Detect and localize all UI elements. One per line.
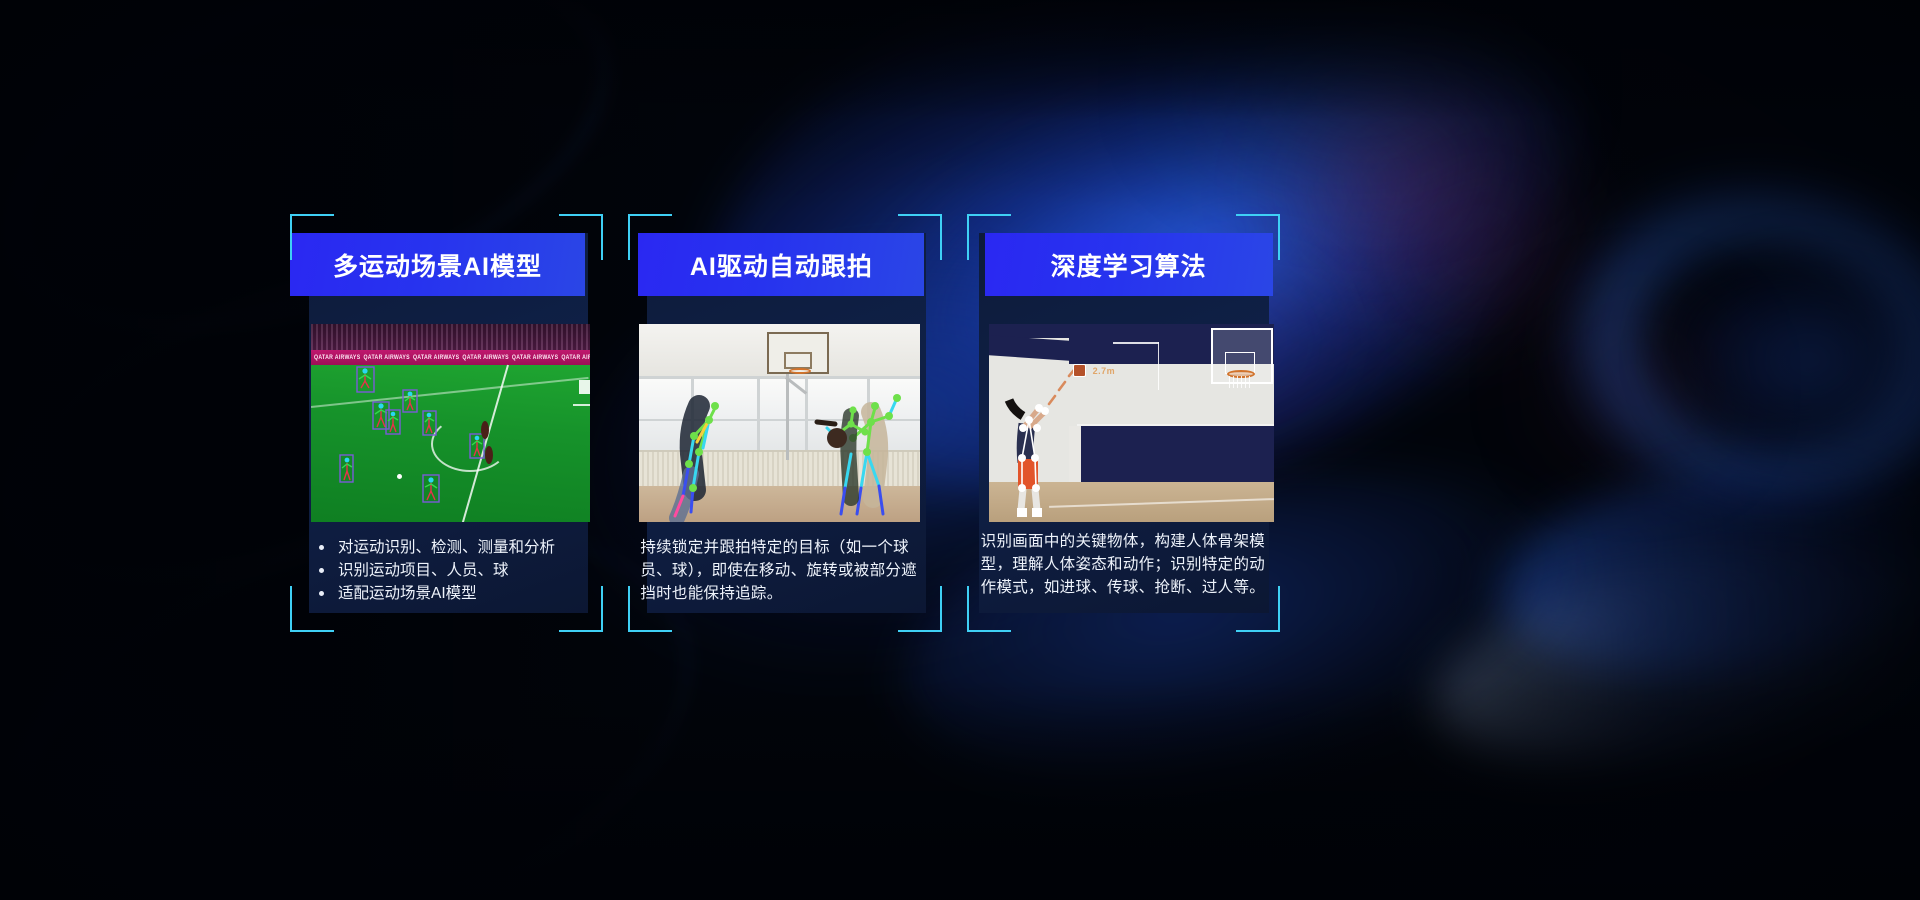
feature-paragraph: 持续锁定并跟拍特定的目标（如一个球员、球），即使在移动、旋转或被部分遮挡时也能保… [640,536,932,605]
card-title: AI驱动自动跟拍 [690,247,873,283]
card-thumbnail-gym [639,324,920,522]
pose-overlay [639,324,920,522]
card-header: 深度学习算法 [985,233,1273,296]
feature-card-ai-auto-tracking[interactable]: AI驱动自动跟拍 [628,214,941,632]
card-header: 多运动场景AI模型 [290,233,585,296]
card-body-text: 识别画面中的关键物体，构建人体骨架模型，理解人体姿态和动作；识别特定的动作模式，… [981,530,1273,599]
feature-card-multi-sport-ai-model[interactable]: 多运动场景AI模型 QATAR AIRWAYS QATAR AIRWAYS QA… [290,214,603,632]
feature-card-row: 多运动场景AI模型 QATAR AIRWAYS QATAR AIRWAYS QA… [290,214,1280,634]
feature-card-deep-learning[interactable]: 深度学习算法 [967,214,1280,632]
pose-overlay [311,324,590,522]
card-thumbnail-soccer: QATAR AIRWAYS QATAR AIRWAYS QATAR AIRWAY… [311,324,590,522]
feature-bullet-list: 对运动识别、检测、测量和分析 识别运动项目、人员、球 适配运动场景AI模型 [312,536,598,605]
card-body-text: 对运动识别、检测、测量和分析 识别运动项目、人员、球 适配运动场景AI模型 [312,536,598,605]
pose-overlay [989,324,1274,522]
distance-label: 2.7m [1093,366,1116,376]
list-item: 适配运动场景AI模型 [312,582,598,605]
card-title: 多运动场景AI模型 [333,247,542,283]
card-thumbnail-court: 2.7m [989,324,1274,522]
tracked-ball-box [1073,364,1086,377]
list-item: 对运动识别、检测、测量和分析 [312,536,598,559]
list-item: 识别运动项目、人员、球 [312,559,598,582]
card-body-text: 持续锁定并跟拍特定的目标（如一个球员、球），即使在移动、旋转或被部分遮挡时也能保… [640,536,932,605]
card-header: AI驱动自动跟拍 [638,233,924,296]
card-title: 深度学习算法 [1051,247,1207,283]
feature-paragraph: 识别画面中的关键物体，构建人体骨架模型，理解人体姿态和动作；识别特定的动作模式，… [981,530,1273,599]
